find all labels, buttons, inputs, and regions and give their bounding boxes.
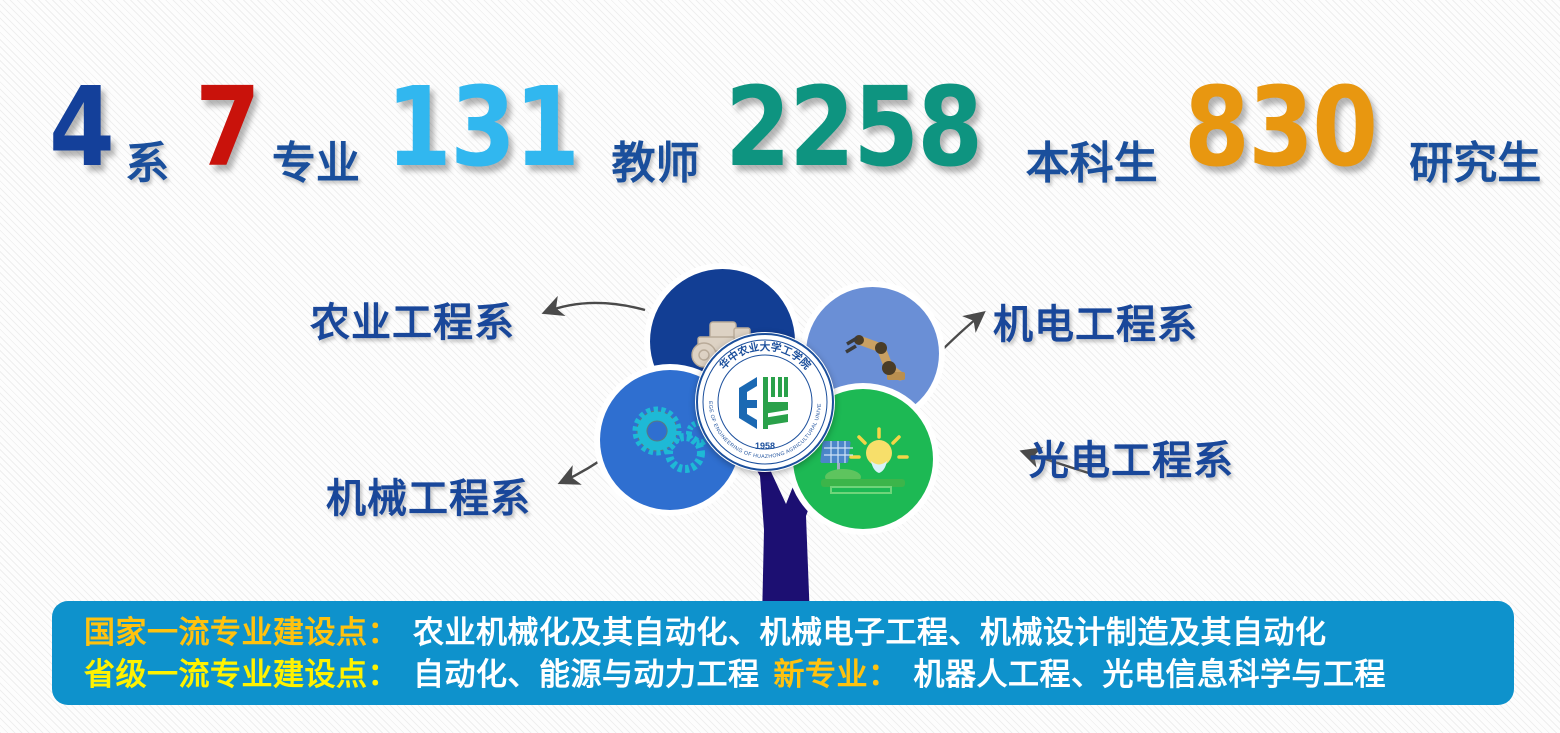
banner-line-provincial: 省级一流专业建设点：自动化、能源与动力工程新专业：机器人工程、光电信息科学与工程 [84,654,1514,696]
emblem-year: 1958 [755,441,775,451]
dept-label-agri[interactable]: 农业工程系 [310,290,515,348]
dept-label-mech[interactable]: 机械工程系 [326,466,531,524]
banner-national-value: 农业机械化及其自动化、机械电子工程、机械设计制造及其自动化 [413,615,1327,651]
stat-teachers-number: 131 [386,77,578,178]
stat-postgraduates-number: 830 [1184,77,1376,178]
banner-provincial-value: 自动化、能源与动力工程 [413,657,760,693]
stat-undergraduates-number: 2258 [725,77,981,178]
stat-majors: 7 专业 [195,85,360,186]
arrow-to-agri [546,303,645,312]
robot-arm-icon [837,318,909,390]
programs-banner: 国家一流专业建设点：农业机械化及其自动化、机械电子工程、机械设计制造及其自动化 … [52,601,1514,705]
statistics-row: 4 系 7 专业 131 教师 2258 本科生 830 研究生 [0,26,1560,186]
arrow-to-elec [934,314,982,358]
stat-departments-label: 系 [125,142,169,186]
banner-national-key: 国家一流专业建设点： [84,615,399,651]
college-emblem[interactable]: 华中农业大学工学院 COLLEGE OF ENGINEERING OF HUAZ… [695,332,835,472]
dept-label-elec[interactable]: 机电工程系 [993,292,1198,350]
stat-undergraduates-label: 本科生 [1026,142,1158,186]
stat-teachers: 131 教师 [386,85,700,186]
stat-majors-label: 专业 [272,142,360,186]
banner-new-majors-value: 机器人工程、光电信息科学与工程 [914,657,1387,693]
stat-teachers-label: 教师 [611,142,699,186]
stat-majors-number: 7 [195,77,259,178]
stat-departments: 4 系 [49,85,170,186]
stat-postgraduates: 830 研究生 [1184,85,1542,186]
stat-postgraduates-label: 研究生 [1409,142,1541,186]
stat-undergraduates: 2258 本科生 [725,85,1157,186]
stat-departments-number: 4 [49,77,113,178]
banner-line-national: 国家一流专业建设点：农业机械化及其自动化、机械电子工程、机械设计制造及其自动化 [84,612,1514,654]
banner-new-majors-key: 新专业： [774,657,900,693]
infographic-canvas: 4 系 7 专业 131 教师 2258 本科生 830 研究生 [0,0,1560,733]
banner-provincial-key: 省级一流专业建设点： [84,657,399,693]
dept-label-opto[interactable]: 光电工程系 [1029,428,1234,486]
